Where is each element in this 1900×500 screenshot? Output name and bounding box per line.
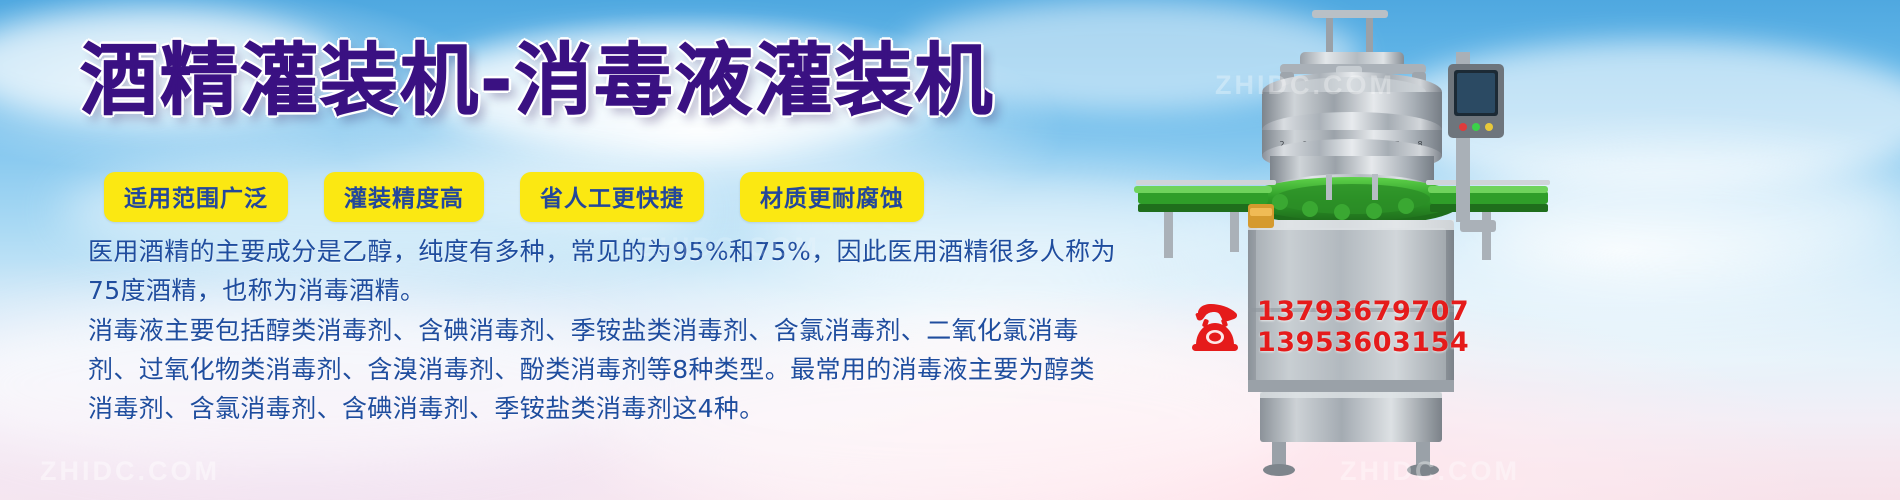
- phone-primary[interactable]: 13793679707: [1257, 296, 1469, 327]
- banner-title: 酒精灌装机-消毒液灌装机: [80, 42, 994, 120]
- watermark-1: ZHIDC.COM: [40, 456, 220, 487]
- feature-badge-4: 材质更耐腐蚀: [740, 172, 924, 222]
- watermark-4: ZHIDC.COM: [640, 232, 820, 263]
- watermark-2: ZHIDC.COM: [1215, 70, 1395, 101]
- feature-badge-1: 适用范围广泛: [104, 172, 288, 222]
- phone-numbers: 13793679707 13953603154: [1257, 296, 1469, 358]
- watermark-3: ZHIDC.COM: [1340, 456, 1520, 487]
- telephone-icon: [1186, 301, 1244, 353]
- phone-secondary[interactable]: 13953603154: [1257, 327, 1469, 358]
- banner-description: 医用酒精的主要成分是乙醇，纯度有多种，常见的为95%和75%，因此医用酒精很多人…: [88, 232, 1118, 428]
- feature-badge-3: 省人工更快捷: [520, 172, 704, 222]
- description-paragraph-2: 消毒液主要包括醇类消毒剂、含碘消毒剂、季铵盐类消毒剂、含氯消毒剂、二氧化氯消毒剂…: [88, 311, 1118, 428]
- feature-badge-2: 灌装精度高: [324, 172, 484, 222]
- feature-badge-list: 适用范围广泛 灌装精度高 省人工更快捷 材质更耐腐蚀: [104, 172, 924, 222]
- promo-banner: 2 3 4 5 6 7 8: [0, 0, 1900, 500]
- description-paragraph-1: 医用酒精的主要成分是乙醇，纯度有多种，常见的为95%和75%，因此医用酒精很多人…: [88, 232, 1118, 310]
- contact-block[interactable]: 13793679707 13953603154: [1186, 296, 1469, 358]
